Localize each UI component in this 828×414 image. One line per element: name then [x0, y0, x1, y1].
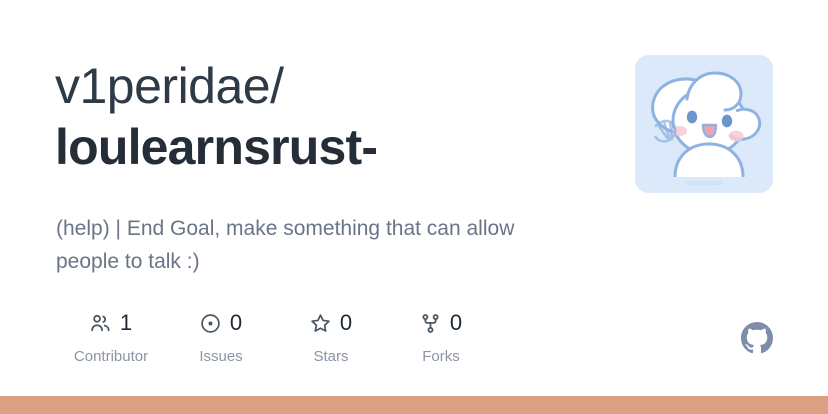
repository-card: v1peridae/ loulearnsrust- (help) | End G… [0, 0, 828, 396]
repository-stats: 1 Contributor 0 Issues [56, 308, 496, 365]
stat-issues-top: 0 [200, 308, 242, 338]
stat-issues[interactable]: 0 Issues [166, 308, 276, 365]
star-icon [310, 313, 331, 334]
svg-text:thepinkpanda: thepinkpanda [686, 181, 723, 187]
accent-bar [0, 396, 828, 414]
stat-forks[interactable]: 0 Forks [386, 308, 496, 365]
stat-issues-label: Issues [199, 348, 242, 365]
github-logo-icon [741, 322, 773, 354]
repository-owner[interactable]: v1peridae/ [55, 56, 615, 116]
stat-stars-label: Stars [313, 348, 348, 365]
stat-contributors-top: 1 [90, 308, 132, 338]
stat-contributors-value: 1 [120, 312, 132, 334]
stat-issues-value: 0 [230, 312, 242, 334]
repository-description: (help) | End Goal, make something that c… [56, 212, 576, 278]
stat-forks-value: 0 [450, 312, 462, 334]
stat-stars-top: 0 [310, 308, 352, 338]
people-icon [90, 313, 111, 334]
stat-stars-value: 0 [340, 312, 352, 334]
stat-contributors-label: Contributor [74, 348, 148, 365]
stat-contributors[interactable]: 1 Contributor [56, 308, 166, 365]
issue-opened-icon [200, 313, 221, 334]
stat-stars[interactable]: 0 Stars [276, 308, 386, 365]
repository-name[interactable]: loulearnsrust- [55, 116, 615, 178]
repository-heading: v1peridae/ loulearnsrust- [55, 56, 615, 178]
fork-icon [420, 313, 441, 334]
stat-forks-label: Forks [422, 348, 460, 365]
stat-forks-top: 0 [420, 308, 462, 338]
owner-avatar[interactable]: thepinkpanda [635, 55, 773, 193]
